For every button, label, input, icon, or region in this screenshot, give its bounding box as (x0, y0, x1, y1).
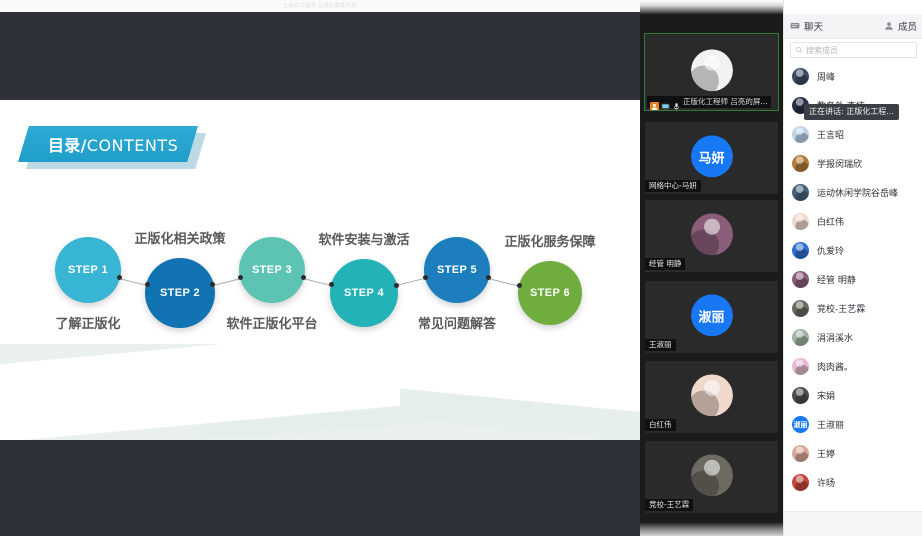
step-circle-1: STEP 1 (55, 237, 121, 303)
speaking-tooltip: 正在讲话: 正版化工程... (804, 104, 899, 120)
video-tile-name: 正版化工程师 吕亮的屏... (683, 97, 768, 107)
panel-bottom-bar (784, 511, 922, 536)
member-name: 运动休闲学院谷岳峰 (817, 186, 898, 199)
shared-screen-area: 正版化工程师 吕亮的屏幕共享 目录/CONTENTS STEP 1了解正版化ST… (0, 0, 640, 536)
avatar-initials: 淑丽 (691, 294, 733, 336)
member-list-item[interactable]: 仇爱玲 (784, 236, 922, 265)
step-circle-3: STEP 3 (239, 237, 305, 303)
video-tile-name: 竞校-王艺霖 (645, 499, 693, 511)
chat-icon (790, 21, 800, 31)
step-circle-4: STEP 4 (330, 259, 398, 327)
step-connector-3 (303, 278, 332, 286)
video-tile-name: 王淑丽 (645, 339, 676, 351)
video-thumbnail-strip[interactable]: 正版化工程师 吕亮的屏...马妍网络中心-马妍经管 明静淑丽王淑丽白红伟竞校-王… (640, 0, 783, 536)
avatar (691, 454, 733, 496)
avatar (792, 155, 809, 172)
avatar-photo (691, 454, 733, 496)
microphone-icon (672, 98, 681, 107)
search-input[interactable]: 搜索成员 (790, 42, 917, 58)
side-panel: 聊天 成员 搜索成员 周峰教务处 李楠王言昭学报闵瑞欣运动休闲学院谷岳峰白红伟仇… (783, 0, 922, 536)
presentation-slide: 目录/CONTENTS STEP 1了解正版化STEP 2正版化相关政策STEP… (0, 100, 640, 440)
avatar-photo (691, 213, 733, 255)
video-tile-status-bar: 正版化工程师 吕亮的屏... (647, 96, 771, 108)
avatar (792, 445, 809, 462)
step-connector-dot (301, 275, 306, 280)
video-tile-name: 白红伟 (645, 419, 676, 431)
member-list-item[interactable]: 肉肉酱。 (784, 352, 922, 381)
slide-title-cn: 目录 (48, 136, 81, 155)
avatar (792, 387, 809, 404)
member-list-item[interactable]: 涓涓溪水 (784, 323, 922, 352)
member-list-item[interactable]: 许旸 (784, 468, 922, 497)
step-caption-6: 正版化服务保障 (505, 231, 596, 250)
slide-title-text: 目录/CONTENTS (48, 132, 178, 156)
video-tile[interactable]: 经管 明静 (645, 200, 778, 272)
member-list[interactable]: 周峰教务处 李楠王言昭学报闵瑞欣运动休闲学院谷岳峰白红伟仇爱玲经管 明静竞校-王… (784, 62, 922, 512)
avatar (691, 49, 733, 91)
step-circle-label: STEP 1 (68, 264, 108, 276)
video-tile[interactable]: 竞校-王艺霖 (645, 441, 778, 513)
step-connector-dot (210, 282, 215, 287)
video-tile-name: 网络中心-马妍 (645, 180, 701, 192)
slide-title-en: CONTENTS (87, 136, 179, 155)
search-placeholder: 搜索成员 (806, 45, 838, 56)
slide-title-ribbon: 目录/CONTENTS (18, 126, 204, 164)
member-list-item[interactable]: 经管 明静 (784, 265, 922, 294)
member-list-item[interactable]: 竞校-王艺霖 (784, 294, 922, 323)
share-dark-band (0, 12, 640, 100)
video-tile-name: 经管 明静 (645, 258, 685, 270)
video-tile[interactable]: 马妍网络中心-马妍 (645, 122, 778, 194)
avatar (792, 300, 809, 317)
member-list-item[interactable]: 宋娟 (784, 381, 922, 410)
member-name: 学报闵瑞欣 (817, 157, 862, 170)
avatar-initials: 马妍 (691, 135, 733, 177)
member-list-item[interactable]: 周峰 (784, 62, 922, 91)
member-name: 宋娟 (817, 389, 835, 402)
steps-diagram: STEP 1了解正版化STEP 2正版化相关政策STEP 3软件正版化平台STE… (0, 208, 640, 358)
tab-members[interactable]: 成员 (878, 14, 922, 38)
meeting-window: 正版化工程师 吕亮的屏幕共享 目录/CONTENTS STEP 1了解正版化ST… (0, 0, 922, 536)
member-name: 经管 明静 (817, 273, 856, 286)
search-icon (795, 41, 803, 59)
avatar-photo (691, 49, 733, 91)
video-tile[interactable]: 淑丽王淑丽 (645, 281, 778, 353)
avatar (792, 242, 809, 259)
screen-share-icon (661, 98, 670, 107)
step-circle-2: STEP 2 (145, 258, 215, 328)
step-circle-label: STEP 3 (252, 264, 292, 276)
step-caption-5: 常见问题解答 (418, 313, 496, 332)
member-name: 仇爱玲 (817, 244, 844, 257)
step-caption-2: 正版化相关政策 (135, 228, 226, 247)
step-circle-6: STEP 6 (518, 261, 582, 325)
avatar (792, 68, 809, 85)
avatar (792, 184, 809, 201)
tab-chat[interactable]: 聊天 (784, 14, 829, 38)
member-name: 王婷 (817, 447, 835, 460)
avatar: 淑丽 (691, 294, 733, 336)
avatar (792, 358, 809, 375)
member-list-item[interactable]: 白红伟 (784, 207, 922, 236)
step-connector-dot (394, 283, 399, 288)
avatar: 马妍 (691, 135, 733, 177)
avatar (792, 126, 809, 143)
member-name: 周峰 (817, 70, 835, 83)
avatar (691, 213, 733, 255)
step-connector-dot (145, 282, 150, 287)
member-list-item[interactable]: 学报闵瑞欣 (784, 149, 922, 178)
step-circle-label: STEP 4 (344, 287, 384, 299)
avatar (792, 329, 809, 346)
step-connector-dot (117, 275, 122, 280)
member-list-item[interactable]: 淑丽王淑丽 (784, 410, 922, 439)
step-circle-label: STEP 6 (530, 287, 570, 299)
avatar (792, 271, 809, 288)
step-caption-1: 了解正版化 (56, 313, 121, 332)
step-caption-4: 软件安装与激活 (319, 229, 410, 248)
video-tile[interactable]: 白红伟 (645, 361, 778, 433)
step-connector-dot (486, 275, 491, 280)
user-icon (650, 98, 659, 107)
member-list-item[interactable]: 王婷 (784, 439, 922, 468)
strip-bottom-fade (640, 522, 783, 536)
member-name: 竞校-王艺霖 (817, 302, 865, 315)
step-connector-1 (119, 278, 147, 286)
member-name: 许旸 (817, 476, 835, 489)
step-connector-4 (396, 278, 426, 286)
tab-chat-label: 聊天 (804, 19, 823, 33)
share-topbar-label: 正版化工程师 吕亮的屏幕共享 (0, 0, 640, 12)
member-name: 王言昭 (817, 128, 844, 141)
tab-members-label: 成员 (898, 19, 917, 33)
avatar (691, 374, 733, 416)
strip-top-fade (640, 0, 783, 14)
step-circle-label: STEP 2 (160, 287, 200, 299)
avatar-photo (691, 374, 733, 416)
avatar (792, 474, 809, 491)
share-topbar: 正版化工程师 吕亮的屏幕共享 (0, 0, 640, 12)
member-name: 涓涓溪水 (817, 331, 853, 344)
step-circle-5: STEP 5 (424, 237, 490, 303)
video-tile[interactable]: 正版化工程师 吕亮的屏... (645, 34, 778, 110)
step-caption-3: 软件正版化平台 (227, 313, 318, 332)
avatar (792, 213, 809, 230)
avatar: 淑丽 (792, 416, 809, 433)
member-name: 王淑丽 (817, 418, 844, 431)
panel-tabs: 聊天 成员 (784, 14, 922, 39)
step-connector-5 (488, 278, 520, 287)
members-icon (884, 21, 894, 31)
member-list-item[interactable]: 运动休闲学院谷岳峰 (784, 178, 922, 207)
step-connector-2 (213, 278, 241, 286)
member-name: 肉肉酱。 (817, 360, 853, 373)
step-circle-label: STEP 5 (437, 264, 477, 276)
panel-top-strip (784, 0, 922, 14)
member-name: 白红伟 (817, 215, 844, 228)
member-list-item[interactable]: 王言昭 (784, 120, 922, 149)
